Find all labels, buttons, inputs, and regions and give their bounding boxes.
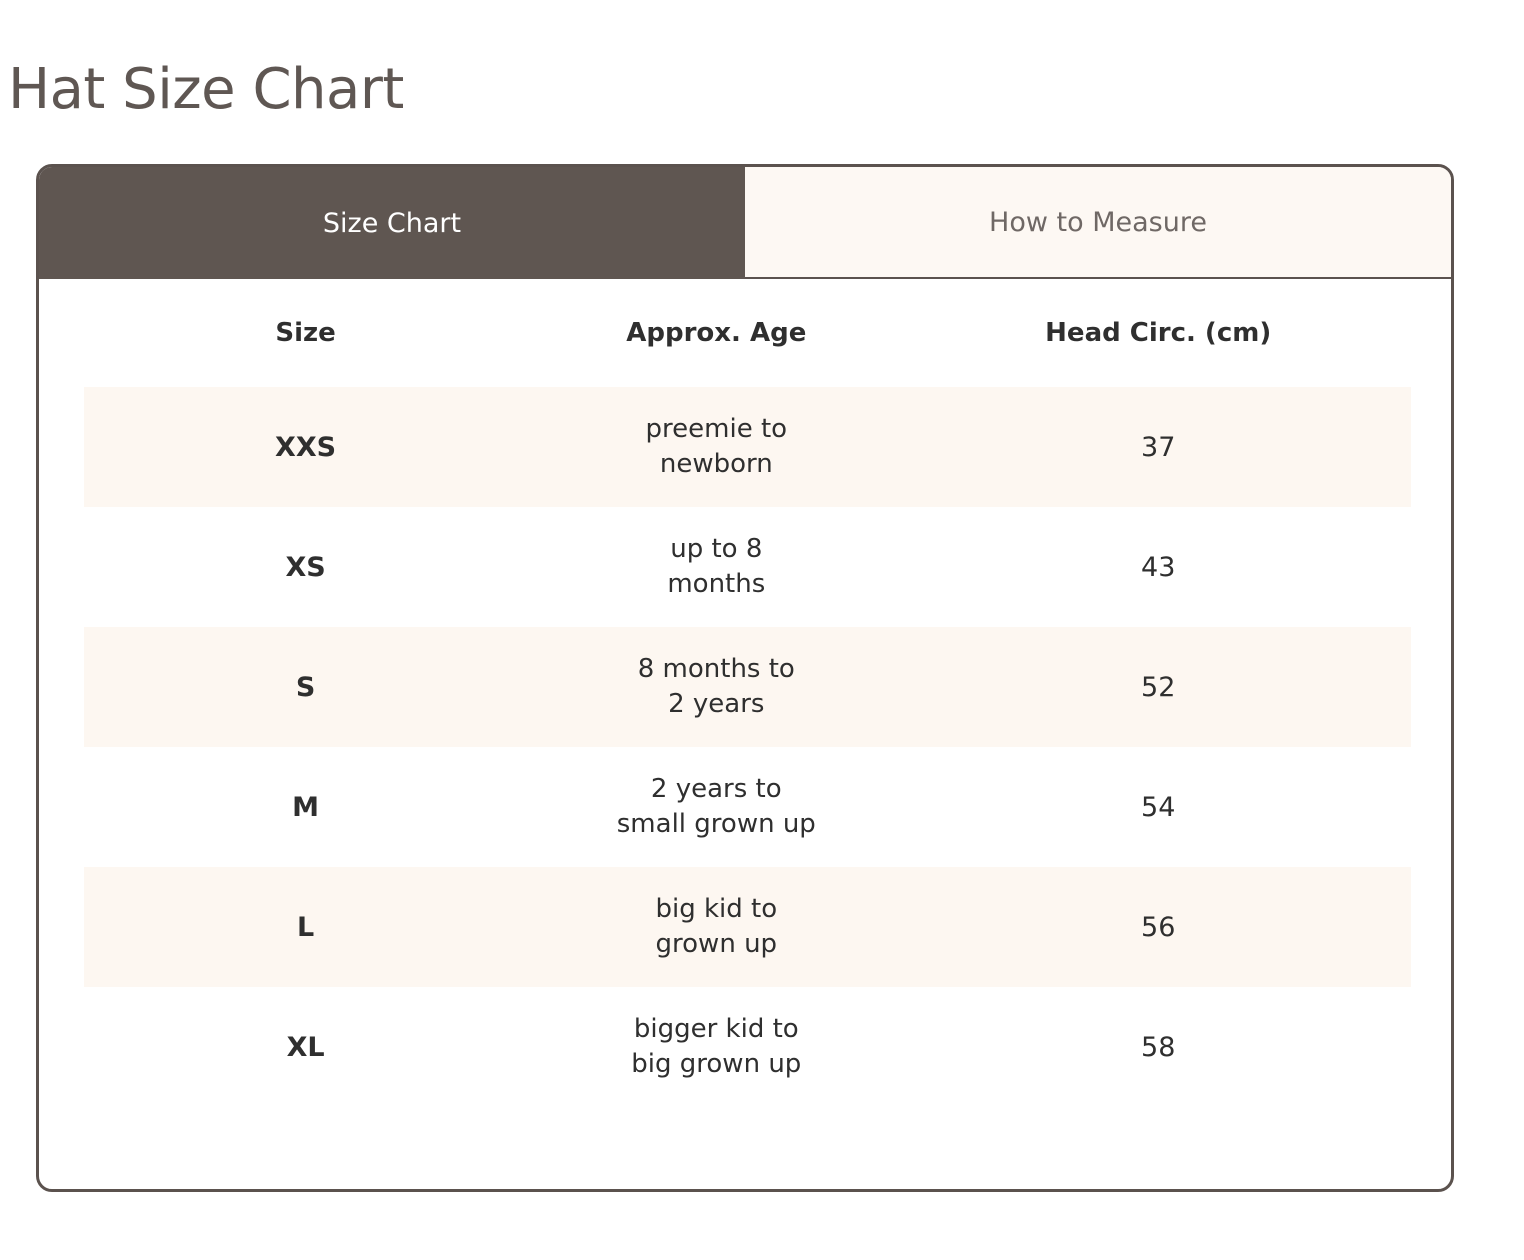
table-pad-left xyxy=(39,279,84,387)
row-pad-right xyxy=(1411,627,1451,747)
cell-head-circumference: 43 xyxy=(905,507,1411,627)
table-row: Lbig kid togrown up56 xyxy=(39,867,1451,987)
table-row: XXSpreemie tonewborn37 xyxy=(39,387,1451,507)
cell-approx-age-line1: up to 8 xyxy=(527,532,905,567)
row-pad-right xyxy=(1411,387,1451,507)
table-header: Size Approx. Age Head Circ. (cm) xyxy=(39,279,1451,387)
table-pad-right xyxy=(1411,279,1451,387)
table-row: M2 years tosmall grown up54 xyxy=(39,747,1451,867)
cell-head-circumference: 37 xyxy=(905,387,1411,507)
cell-approx-age-line2: big grown up xyxy=(527,1047,905,1082)
row-pad-left xyxy=(39,987,84,1107)
row-pad-right xyxy=(1411,747,1451,867)
row-pad-right xyxy=(1411,507,1451,627)
cell-size: XL xyxy=(84,987,527,1107)
tab-size-chart[interactable]: Size Chart xyxy=(39,167,745,279)
cell-approx-age-line1: 2 years to xyxy=(527,772,905,807)
cell-size: S xyxy=(84,627,527,747)
cell-approx-age: up to 8months xyxy=(527,507,905,627)
tab-bar: Size Chart How to Measure xyxy=(39,167,1451,279)
cell-approx-age-line1: bigger kid to xyxy=(527,1012,905,1047)
cell-size: XXS xyxy=(84,387,527,507)
cell-size: L xyxy=(84,867,527,987)
page-root: Hat Size Chart Size Chart How to Measure xyxy=(0,0,1524,1260)
column-header-head-circumference: Head Circ. (cm) xyxy=(905,279,1411,387)
tab-how-to-measure-label: How to Measure xyxy=(989,207,1207,238)
cell-head-circumference: 56 xyxy=(905,867,1411,987)
cell-head-circumference: 52 xyxy=(905,627,1411,747)
cell-approx-age: bigger kid tobig grown up xyxy=(527,987,905,1107)
cell-approx-age: preemie tonewborn xyxy=(527,387,905,507)
cell-approx-age-line2: grown up xyxy=(527,927,905,962)
cell-approx-age: 8 months to2 years xyxy=(527,627,905,747)
table-body: XXSpreemie tonewborn37XSup to 8months43S… xyxy=(39,387,1451,1107)
cell-approx-age: big kid togrown up xyxy=(527,867,905,987)
table-row: XLbigger kid tobig grown up58 xyxy=(39,987,1451,1107)
page-title: Hat Size Chart xyxy=(8,56,404,123)
column-header-approx-age: Approx. Age xyxy=(527,279,905,387)
row-pad-right xyxy=(1411,867,1451,987)
cell-approx-age-line1: preemie to xyxy=(527,412,905,447)
tab-size-chart-label: Size Chart xyxy=(323,208,461,239)
cell-approx-age-line1: 8 months to xyxy=(527,652,905,687)
table-row: S8 months to2 years52 xyxy=(39,627,1451,747)
row-pad-left xyxy=(39,627,84,747)
row-pad-right xyxy=(1411,987,1451,1107)
column-header-size: Size xyxy=(84,279,527,387)
cell-size: M xyxy=(84,747,527,867)
cell-approx-age-line2: months xyxy=(527,567,905,602)
size-chart-card: Size Chart How to Measure Size Approx. A… xyxy=(36,164,1454,1192)
cell-head-circumference: 54 xyxy=(905,747,1411,867)
cell-head-circumference: 58 xyxy=(905,987,1411,1107)
table-header-row: Size Approx. Age Head Circ. (cm) xyxy=(39,279,1451,387)
cell-approx-age: 2 years tosmall grown up xyxy=(527,747,905,867)
row-pad-left xyxy=(39,507,84,627)
row-pad-left xyxy=(39,747,84,867)
cell-approx-age-line2: small grown up xyxy=(527,807,905,842)
tab-how-to-measure[interactable]: How to Measure xyxy=(745,167,1451,279)
cell-size: XS xyxy=(84,507,527,627)
cell-approx-age-line2: 2 years xyxy=(527,687,905,722)
row-pad-left xyxy=(39,387,84,507)
cell-approx-age-line1: big kid to xyxy=(527,892,905,927)
cell-approx-age-line2: newborn xyxy=(527,447,905,482)
row-pad-left xyxy=(39,867,84,987)
size-chart-table: Size Approx. Age Head Circ. (cm) XXSpree… xyxy=(39,279,1451,1107)
table-row: XSup to 8months43 xyxy=(39,507,1451,627)
